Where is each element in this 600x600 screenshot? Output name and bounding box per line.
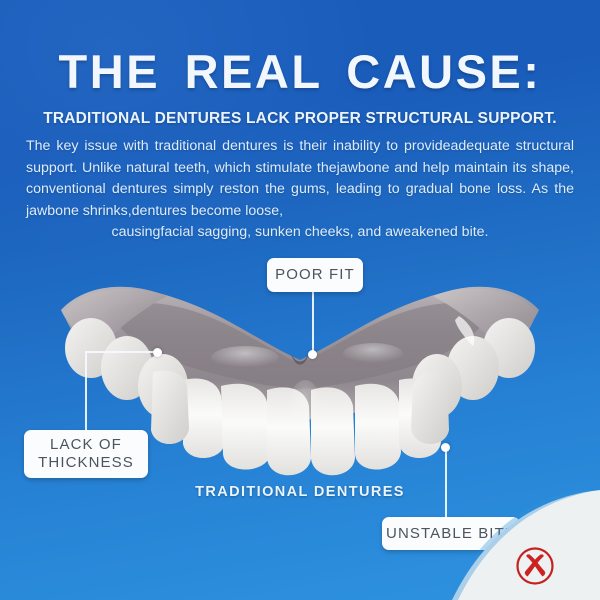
page-title: THE REAL CAUSE: bbox=[0, 48, 600, 95]
red-x-circle-icon bbox=[515, 546, 555, 586]
body-paragraph-main: The key issue with traditional dentures … bbox=[26, 138, 574, 219]
corner-swoosh bbox=[390, 490, 600, 600]
callout-lack-of-thickness-line1: LACK OF bbox=[38, 436, 134, 454]
callout-lack-of-thickness[interactable]: LACK OF THICKNESS bbox=[24, 430, 148, 478]
callout-poor-fit[interactable]: POOR FIT bbox=[267, 258, 363, 292]
body-paragraph-last-line: causingfacial sagging, sunken cheeks, an… bbox=[26, 222, 574, 244]
denture-tooth-canine-l bbox=[183, 379, 225, 458]
denture-tooth-premolar-r bbox=[411, 371, 449, 445]
gloss-highlight-right bbox=[343, 343, 403, 365]
denture-tooth-lateral-l bbox=[221, 384, 271, 470]
callout-poor-fit-label: POOR FIT bbox=[275, 266, 355, 284]
callout-lack-of-thickness-line2: THICKNESS bbox=[38, 454, 134, 472]
gloss-highlight-center bbox=[289, 380, 321, 432]
page-subtitle: TRADITIONAL DENTURES LACK PROPER STRUCTU… bbox=[0, 110, 600, 128]
denture-tooth-lateral-r bbox=[355, 384, 401, 470]
infographic-slide: THE REAL CAUSE: TRADITIONAL DENTURES LAC… bbox=[0, 0, 600, 600]
gloss-highlight-left bbox=[211, 346, 279, 370]
denture-tooth-premolar-l bbox=[151, 371, 189, 445]
body-paragraph: The key issue with traditional dentures … bbox=[26, 136, 574, 244]
